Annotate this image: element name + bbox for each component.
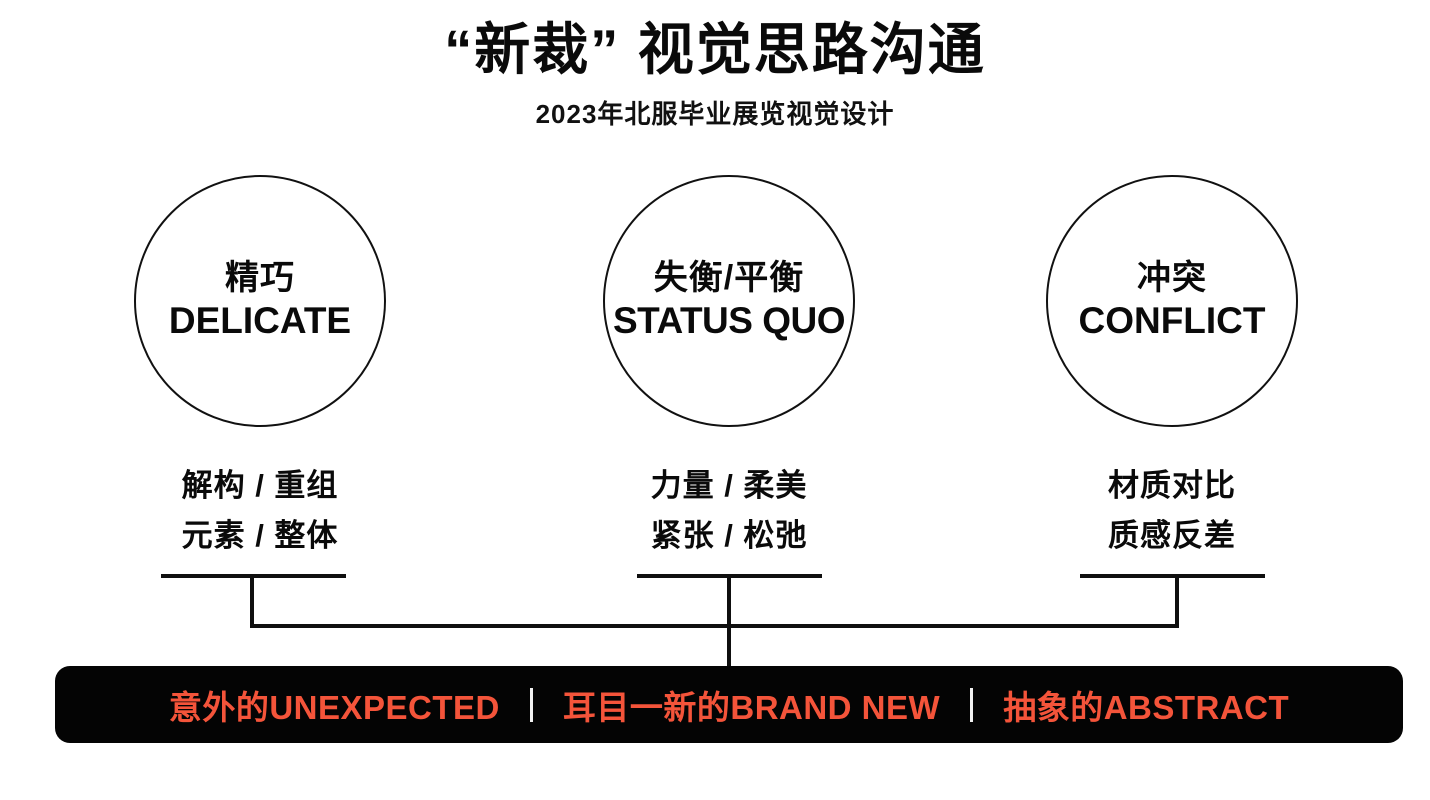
concept-keywords-status-quo: 力量 / 柔美 紧张 / 松弛 <box>579 461 879 561</box>
circle-label-cn: 失衡/平衡 <box>654 261 804 297</box>
concept-column-delicate: 精巧 DELICATE 解构 / 重组 元素 / 整体 <box>110 175 410 561</box>
concept-circle-status-quo: 失衡/平衡 STATUS QUO <box>603 175 855 427</box>
connector-drop-conflict <box>1175 574 1179 626</box>
connector-spine-center <box>727 574 731 674</box>
keyword-line: 力量 / 柔美 <box>579 461 879 511</box>
concept-circle-conflict: 冲突 CONFLICT <box>1046 175 1298 427</box>
concept-columns: 精巧 DELICATE 解构 / 重组 元素 / 整体 失衡/平衡 STATUS… <box>0 175 1430 575</box>
page-title: “新裁” 视觉思路沟通 <box>0 18 1430 82</box>
keyword-line: 质感反差 <box>1022 511 1322 561</box>
circle-label-en: STATUS QUO <box>613 302 845 341</box>
circle-label-en: CONFLICT <box>1078 302 1265 341</box>
slide-header: “新裁” 视觉思路沟通 2023年北服毕业展览视觉设计 <box>0 18 1430 131</box>
keyword-line: 元素 / 整体 <box>110 511 410 561</box>
slide-canvas: “新裁” 视觉思路沟通 2023年北服毕业展览视觉设计 精巧 DELICATE … <box>0 0 1430 800</box>
circle-label-en: DELICATE <box>169 302 351 341</box>
concept-column-status-quo: 失衡/平衡 STATUS QUO 力量 / 柔美 紧张 / 松弛 <box>579 175 879 561</box>
circle-label-cn: 冲突 <box>1137 261 1207 297</box>
circle-label-cn: 精巧 <box>225 261 295 297</box>
keyword-line: 解构 / 重组 <box>110 461 410 511</box>
connector-drop-delicate <box>250 574 254 626</box>
concept-column-conflict: 冲突 CONFLICT 材质对比 质感反差 <box>1022 175 1322 561</box>
keyword-line: 紧张 / 松弛 <box>579 511 879 561</box>
summary-item-abstract: 抽象的ABSTRACT <box>1003 681 1289 729</box>
summary-item-brand-new: 耳目一新的BRAND NEW <box>563 681 940 729</box>
keyword-line: 材质对比 <box>1022 461 1322 511</box>
summary-bar: 意外的UNEXPECTED 耳目一新的BRAND NEW 抽象的ABSTRACT <box>55 666 1403 743</box>
summary-separator <box>970 688 973 722</box>
summary-separator <box>530 688 533 722</box>
connector-crossbar <box>250 624 1179 628</box>
concept-keywords-conflict: 材质对比 质感反差 <box>1022 461 1322 561</box>
page-subtitle: 2023年北服毕业展览视觉设计 <box>0 94 1430 131</box>
concept-circle-delicate: 精巧 DELICATE <box>134 175 386 427</box>
concept-keywords-delicate: 解构 / 重组 元素 / 整体 <box>110 461 410 561</box>
summary-item-unexpected: 意外的UNEXPECTED <box>169 681 500 729</box>
